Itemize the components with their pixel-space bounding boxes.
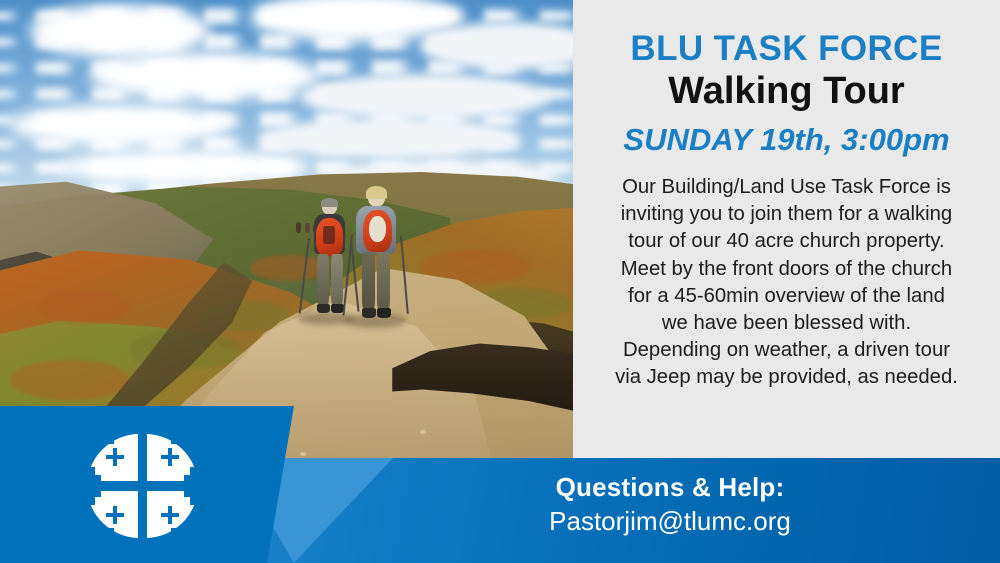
cloud xyxy=(10,104,230,146)
cloud xyxy=(260,118,520,158)
distant-hiker xyxy=(296,222,301,233)
hiker-leg xyxy=(377,252,390,310)
hiker-right xyxy=(350,190,406,326)
hiker-leg xyxy=(362,252,375,310)
body-line: Depending on weather, a driven tour xyxy=(591,337,982,364)
contact-block: Questions & Help: Pastorjim@tlumc.org xyxy=(340,471,1000,538)
hiker-beanie xyxy=(366,186,387,199)
questions-label: Questions & Help: xyxy=(340,471,1000,504)
hiker-boot xyxy=(317,304,330,313)
brush xyxy=(10,360,130,400)
flyer-slide: BLU TASK FORCE Walking Tour SUNDAY 19th,… xyxy=(0,0,1000,563)
logo-quadrant-top-left xyxy=(86,433,139,486)
body-line: via Jeep may be provided, as needed. xyxy=(591,364,982,391)
hiker-leg xyxy=(331,254,343,306)
body-line: inviting you to join them for a walking xyxy=(591,201,982,228)
contact-email[interactable]: Pastorjim@tlumc.org xyxy=(340,504,1000,538)
backpack-mat xyxy=(369,216,386,242)
headline-secondary: Walking Tour xyxy=(573,72,1000,110)
hiker-leg xyxy=(317,254,329,306)
pebble xyxy=(420,430,426,434)
logo-center-gap xyxy=(84,431,201,541)
hiker-boot xyxy=(377,308,391,318)
hiker-hat xyxy=(321,198,338,207)
body-line: Our Building/Land Use Task Force is xyxy=(591,174,982,201)
brush xyxy=(40,290,130,324)
hiker-boot xyxy=(362,308,376,318)
united-methodist-cross-logo xyxy=(84,431,201,541)
cross-logo-svg xyxy=(84,431,201,541)
cloud xyxy=(90,52,320,100)
body-line: we have been blessed with. xyxy=(591,310,982,337)
headline-primary: BLU TASK FORCE xyxy=(573,31,1000,66)
text-panel: BLU TASK FORCE Walking Tour SUNDAY 19th,… xyxy=(573,0,1000,458)
pebble xyxy=(300,452,306,456)
cloud xyxy=(300,74,550,120)
body-line: tour of our 40 acre church property. xyxy=(591,228,982,255)
body-line: Meet by the front doors of the church xyxy=(591,256,982,283)
body-line: for a 45-60min overview of the land xyxy=(591,283,982,310)
body-copy: Our Building/Land Use Task Force is invi… xyxy=(591,174,982,392)
event-datetime: SUNDAY 19th, 3:00pm xyxy=(573,124,1000,155)
cloud xyxy=(30,4,210,58)
backpack-pocket xyxy=(323,226,335,244)
